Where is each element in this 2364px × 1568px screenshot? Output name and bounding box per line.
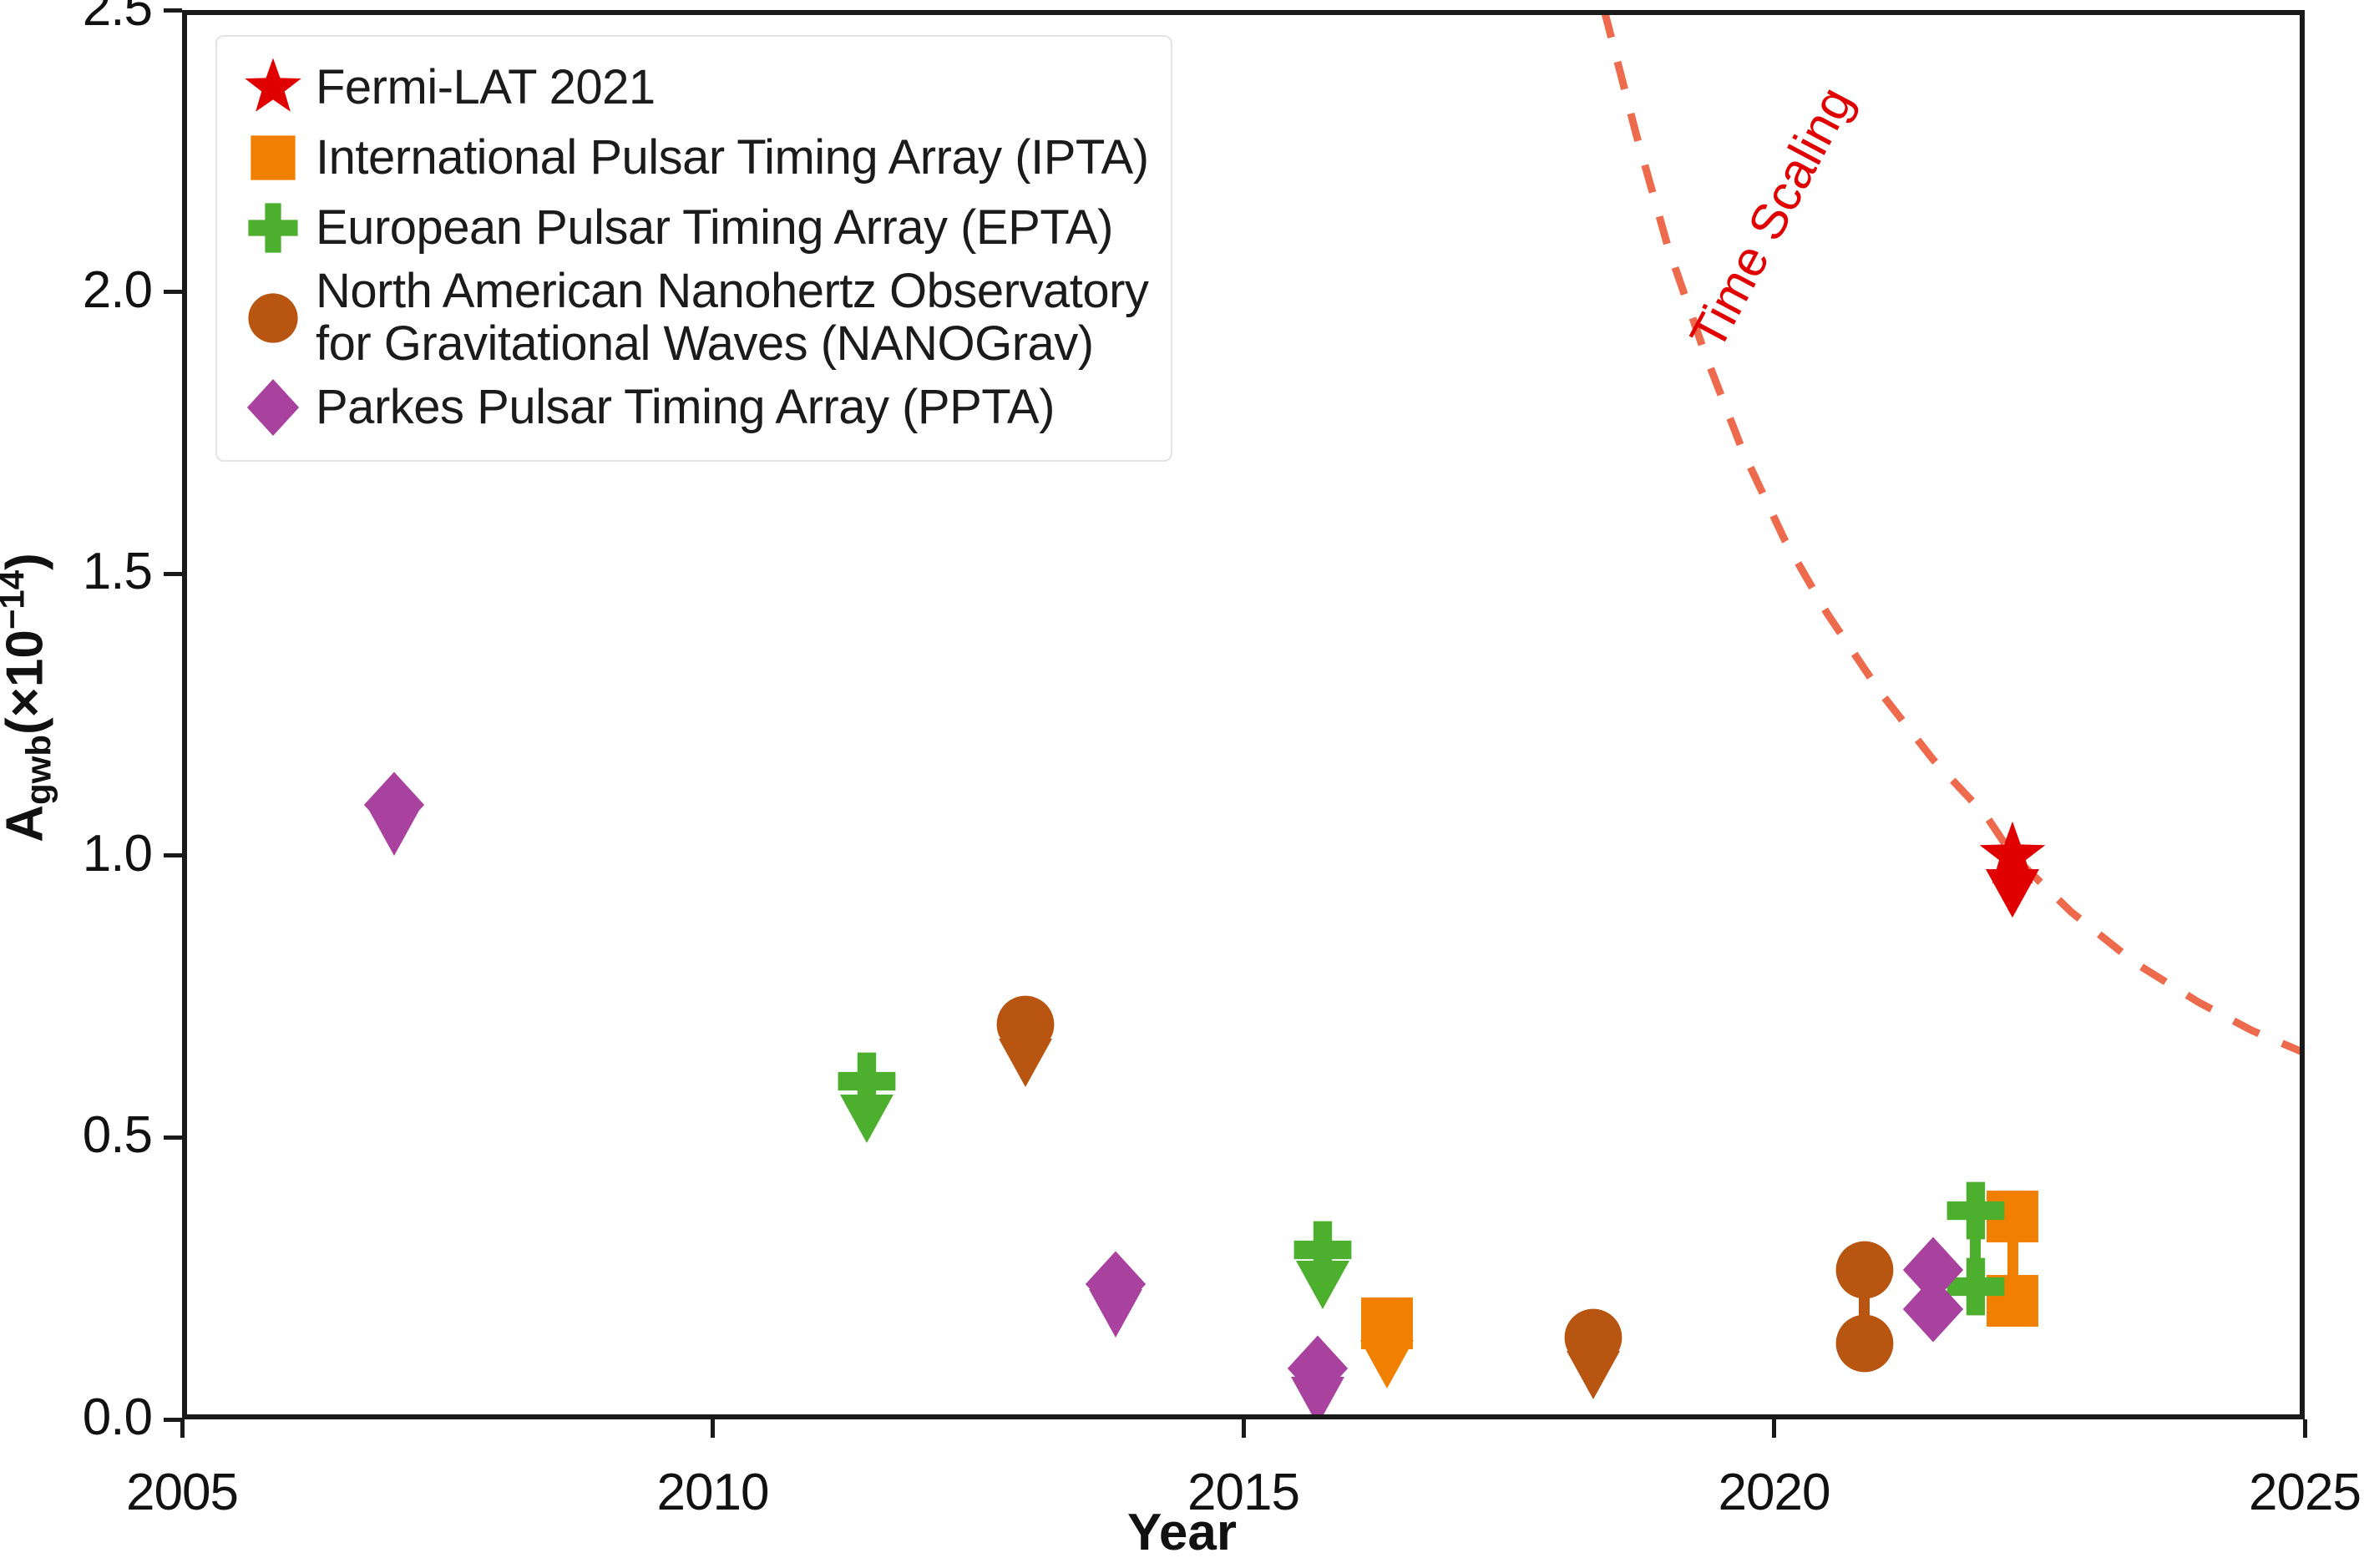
- y-tick-label: 2.0: [0, 260, 152, 320]
- x-tick: [180, 1419, 185, 1438]
- legend[interactable]: Fermi-LAT 2021International Pulsar Timin…: [215, 35, 1172, 462]
- y-tick-label: 2.5: [0, 0, 152, 38]
- y-tick: [164, 8, 182, 13]
- y-axis-label: Agwb(×10−14): [0, 406, 55, 990]
- legend-item-label: International Pulsar Timing Array (IPTA): [316, 132, 1149, 185]
- legend-item[interactable]: Fermi-LAT 2021: [235, 55, 1149, 120]
- x-tick: [1772, 1419, 1776, 1438]
- star-icon: [242, 57, 304, 119]
- x-tick: [1242, 1419, 1246, 1438]
- y-tick: [164, 853, 182, 857]
- legend-item-label: European Pulsar Timing Array (EPTA): [316, 202, 1113, 255]
- x-axis-label: Year: [0, 1503, 2364, 1562]
- y-tick: [164, 572, 182, 576]
- y-axis-label-base: A: [0, 805, 54, 842]
- legend-item[interactable]: European Pulsar Timing Array (EPTA): [235, 195, 1149, 260]
- legend-item-label: North American Nanohertz Observatory for…: [316, 266, 1148, 370]
- y-tick: [164, 1136, 182, 1140]
- square-icon: [235, 125, 316, 190]
- chart-figure: 0.00.51.01.52.02.5 20052010201520202025 …: [0, 0, 2364, 1568]
- x-tick: [2303, 1419, 2307, 1438]
- plus-icon: [235, 195, 316, 260]
- y-tick-label: 0.0: [0, 1388, 152, 1447]
- legend-item-label: Fermi-LAT 2021: [316, 62, 656, 114]
- diamond-icon: [235, 375, 316, 440]
- y-axis-label-paren-close: ): [0, 553, 54, 570]
- legend-item[interactable]: International Pulsar Timing Array (IPTA): [235, 125, 1149, 190]
- legend-item[interactable]: North American Nanohertz Observatory for…: [235, 266, 1149, 370]
- square-icon: [242, 127, 304, 189]
- y-tick: [164, 290, 182, 294]
- y-axis-label-sub: gwb: [19, 735, 58, 805]
- circle-icon: [235, 286, 316, 351]
- y-axis-label-paren-open: (×10: [0, 630, 54, 735]
- y-axis-label-exponent: −14: [0, 570, 32, 630]
- legend-item[interactable]: Parkes Pulsar Timing Array (PPTA): [235, 375, 1149, 440]
- y-tick-label: 0.5: [0, 1105, 152, 1165]
- diamond-icon: [242, 377, 304, 438]
- plus-icon: [242, 197, 304, 259]
- star-icon: [235, 55, 316, 120]
- circle-icon: [242, 287, 304, 349]
- x-tick: [711, 1419, 715, 1438]
- legend-item-label: Parkes Pulsar Timing Array (PPTA): [316, 382, 1055, 434]
